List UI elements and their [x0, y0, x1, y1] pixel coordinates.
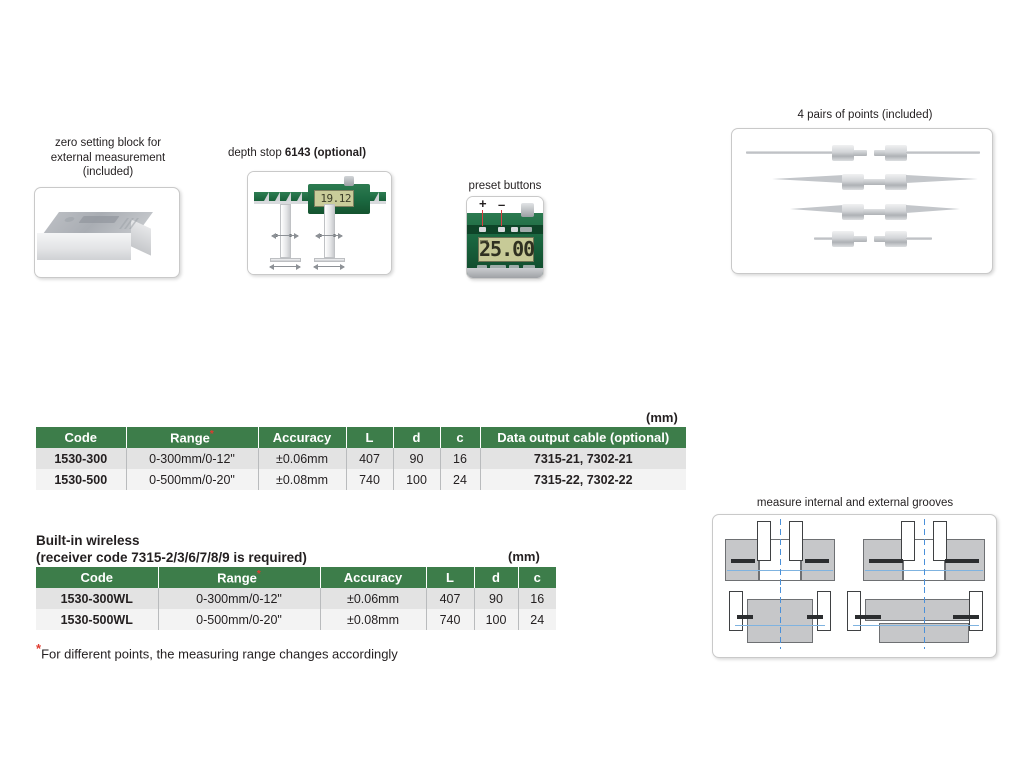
groove-d-centerline — [924, 587, 925, 649]
grooves-panel — [712, 514, 997, 658]
header-d: d — [393, 427, 440, 448]
cell-range: 0-300mm/0-12" — [158, 588, 320, 609]
groove-c-tip-right — [807, 615, 823, 619]
depth-stop-panel: 19.12 — [247, 171, 392, 275]
cell-d: 90 — [393, 448, 440, 469]
preset-buttons-panel: + – 25.00 mm — [466, 196, 544, 279]
point-2-rod — [906, 151, 980, 154]
cell-range: 0-500mm/0-20" — [158, 609, 320, 630]
cell-c: 16 — [440, 448, 480, 469]
groove-b-tip-left — [869, 559, 903, 563]
groove-d-tip-left — [855, 615, 881, 619]
zero-setting-block-image — [35, 188, 179, 277]
groove-a-centerline — [780, 519, 781, 585]
cell-code: 1530-500 — [36, 469, 126, 490]
grooves-caption: measure internal and external grooves — [710, 496, 1000, 511]
caliper-thumb-knob — [344, 176, 354, 186]
point-1-stub — [853, 150, 867, 156]
preset-lcd-unit: mm — [480, 239, 488, 245]
minus-leader-line — [501, 210, 502, 226]
cell-range: 0-500mm/0-20" — [126, 469, 258, 490]
beam-tooth-3 — [286, 192, 291, 201]
cell-c: 24 — [518, 609, 556, 630]
header-c: c — [440, 427, 480, 448]
groove-c-centerline — [780, 587, 781, 649]
point-1-hex — [832, 145, 854, 161]
depth-stop-foot-right — [314, 258, 345, 262]
range-asterisk: * — [210, 429, 214, 440]
groove-a-jaw-right — [789, 521, 803, 561]
beam-tooth-5 — [374, 192, 379, 201]
header-data-output-cable: Data output cable (optional) — [480, 427, 686, 448]
point-4-hex — [885, 174, 907, 190]
plus-sign-label: + — [479, 199, 487, 209]
point-3-taper — [772, 175, 844, 183]
depth-stop-leg-left — [280, 204, 291, 258]
zero-setting-block-panel — [34, 187, 180, 278]
header-range-label: Range — [217, 571, 257, 586]
caption-line-3: (included) — [28, 165, 188, 180]
range-asterisk: * — [257, 569, 261, 580]
depth-stop-image: 19.12 — [248, 172, 391, 274]
groove-a-tip-right — [805, 559, 829, 563]
depth-stop-caption: depth stop 6143 (optional) — [228, 146, 418, 161]
table-row: 1530-300 0-300mm/0-12" ±0.06mm 407 90 16… — [36, 448, 686, 469]
point-7-hex — [832, 231, 854, 247]
groove-d-tip-right — [953, 615, 979, 619]
groove-d-axis — [853, 625, 979, 626]
table-row: 1530-500WL 0-500mm/0-20" ±0.08mm 740 100… — [36, 609, 556, 630]
wireless-table-header-row: Code Range* Accuracy L d c — [36, 567, 556, 588]
wireless-heading-line-2: (receiver code 7315-2/3/6/7/8/9 is requi… — [36, 549, 307, 566]
point-2-hex — [885, 145, 907, 161]
cell-c: 24 — [440, 469, 480, 490]
main-spec-table: Code Range* Accuracy L d c Data output c… — [36, 427, 686, 490]
header-d: d — [474, 567, 518, 588]
preset-thumb-knob — [521, 203, 534, 217]
point-4-taper — [906, 175, 978, 183]
beam-tooth-2 — [275, 192, 280, 201]
span-arrow-right — [314, 266, 344, 267]
point-5-hex — [842, 204, 864, 220]
point-5-taper — [790, 205, 844, 213]
block-front-face — [37, 233, 131, 260]
header-accuracy: Accuracy — [258, 427, 346, 448]
points-set-panel — [731, 128, 993, 274]
header-range: Range* — [126, 427, 258, 448]
groove-b-jaw-right — [933, 521, 947, 561]
table-row: 1530-500 0-500mm/0-20" ±0.08mm 740 100 2… — [36, 469, 686, 490]
groove-a-tip-left — [731, 559, 755, 563]
main-table-unit-label: (mm) — [646, 410, 678, 425]
range-footnote: *For different points, the measuring ran… — [36, 641, 398, 661]
header-l: L — [426, 567, 474, 588]
cell-c: 16 — [518, 588, 556, 609]
point-6-hex — [885, 204, 907, 220]
unit-toggle-button[interactable] — [520, 227, 532, 232]
plus-leader-line — [482, 210, 483, 226]
cell-cable: 7315-22, 7302-22 — [480, 469, 686, 490]
cell-l: 407 — [426, 588, 474, 609]
preset-buttons-image: + – 25.00 mm — [467, 197, 543, 278]
groove-b-centerline — [924, 519, 925, 585]
minus-sign-label: – — [498, 200, 505, 210]
preset-plus-button[interactable] — [479, 227, 486, 232]
table-row: 1530-300WL 0-300mm/0-12" ±0.06mm 407 90 … — [36, 588, 556, 609]
point-6-taper — [906, 205, 960, 213]
cell-d: 100 — [393, 469, 440, 490]
cell-d: 90 — [474, 588, 518, 609]
groove-b-jaw-left — [901, 521, 915, 561]
groove-b-tip-right — [945, 559, 979, 563]
cell-accuracy: ±0.08mm — [320, 609, 426, 630]
wireless-table-unit-label: (mm) — [508, 549, 540, 564]
beam-tooth-4 — [297, 192, 302, 201]
depth-stop-caption-code: 6143 — [285, 147, 311, 159]
point-8-hex — [885, 231, 907, 247]
adjust-arrow-left — [272, 235, 298, 236]
cell-range: 0-300mm/0-12" — [126, 448, 258, 469]
main-table-header-row: Code Range* Accuracy L d c Data output c… — [36, 427, 686, 448]
caliper-base-edge — [467, 268, 543, 278]
wireless-heading: Built-in wireless (receiver code 7315-2/… — [36, 532, 307, 566]
depth-stop-caption-prefix: depth stop — [228, 147, 285, 159]
point-3-hex — [842, 174, 864, 190]
block-side-face — [131, 219, 151, 255]
footnote-text: For different points, the measuring rang… — [41, 646, 398, 661]
header-code: Code — [36, 427, 126, 448]
depth-stop-foot-left — [270, 258, 301, 262]
wireless-spec-table: Code Range* Accuracy L d c 1530-300WL 0-… — [36, 567, 556, 630]
point-7-stub — [853, 236, 867, 242]
preset-buttons-caption: preset buttons — [445, 179, 565, 194]
adjust-arrow-right — [316, 235, 342, 236]
header-c: c — [518, 567, 556, 588]
cell-l: 740 — [346, 469, 393, 490]
cell-accuracy: ±0.06mm — [258, 448, 346, 469]
depth-stop-leg-right — [324, 204, 335, 258]
points-set-caption: 4 pairs of points (included) — [760, 108, 970, 123]
wireless-heading-line-1: Built-in wireless — [36, 532, 307, 549]
point-8-rod — [906, 237, 932, 240]
cell-accuracy: ±0.08mm — [258, 469, 346, 490]
cell-code: 1530-300 — [36, 448, 126, 469]
beam-tooth-1 — [264, 192, 269, 201]
zero-setting-block-caption: zero setting block for external measurem… — [28, 136, 188, 180]
block-brand-logo — [78, 216, 119, 223]
cell-code: 1530-300WL — [36, 588, 158, 609]
header-l: L — [346, 427, 393, 448]
cell-d: 100 — [474, 609, 518, 630]
cell-code: 1530-500WL — [36, 609, 158, 630]
header-code: Code — [36, 567, 158, 588]
preset-extra-button[interactable] — [511, 227, 518, 232]
caption-line-2: external measurement — [28, 151, 188, 166]
header-range: Range* — [158, 567, 320, 588]
cell-l: 740 — [426, 609, 474, 630]
cell-cable: 7315-21, 7302-21 — [480, 448, 686, 469]
header-accuracy: Accuracy — [320, 567, 426, 588]
groove-a-jaw-left — [757, 521, 771, 561]
span-arrow-left — [270, 266, 300, 267]
preset-minus-button[interactable] — [498, 227, 505, 232]
point-1-rod — [746, 151, 842, 154]
caption-line-1: zero setting block for — [28, 136, 188, 151]
groove-c-tip-left — [737, 615, 753, 619]
depth-stop-caption-suffix: (optional) — [311, 147, 367, 159]
header-range-label: Range — [170, 431, 210, 446]
cell-l: 407 — [346, 448, 393, 469]
cell-accuracy: ±0.06mm — [320, 588, 426, 609]
